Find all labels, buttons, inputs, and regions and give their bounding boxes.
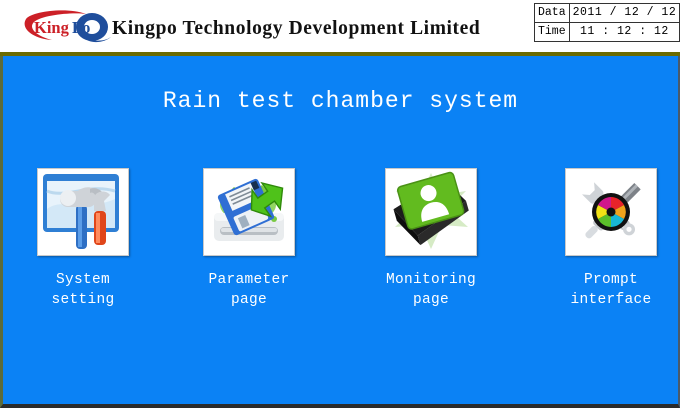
date-value: 2011 / 12 / 12 <box>569 4 680 23</box>
date-row: Data 2011 / 12 / 12 <box>535 4 680 23</box>
tile-label: Monitoring page <box>351 270 511 310</box>
hammer-wrench-window-icon <box>37 168 129 256</box>
svg-text:King: King <box>34 18 70 37</box>
time-label: Time <box>535 23 570 42</box>
screwdriver-wrench-colorwheel-icon <box>565 168 657 256</box>
time-row: Time 11 : 12 : 12 <box>535 23 680 42</box>
tile-label: Parameter page <box>169 270 329 310</box>
rain-test-chamber-app: King Po Kingpo Technology Development Li… <box>0 0 680 408</box>
time-value: 11 : 12 : 12 <box>569 23 680 42</box>
page-title: Rain test chamber system <box>3 88 678 114</box>
tile-monitoring-page[interactable]: Monitoring page <box>351 168 511 308</box>
company-name: Kingpo Technology Development Limited <box>112 14 532 44</box>
tile-label: System setting <box>3 270 163 310</box>
main-content: Rain test chamber system <box>0 56 680 408</box>
green-user-card-icon <box>385 168 477 256</box>
tile-prompt-interface[interactable]: Prompt interface <box>531 168 680 308</box>
tile-label: Prompt interface <box>531 270 680 310</box>
svg-text:Po: Po <box>72 18 90 37</box>
date-label: Data <box>535 4 570 23</box>
tile-system-setting[interactable]: System setting <box>3 168 163 308</box>
tile-parameter-page[interactable]: Parameter page <box>169 168 329 308</box>
kingpo-swoosh-logo: King Po <box>22 10 118 44</box>
header-bar: King Po Kingpo Technology Development Li… <box>0 0 680 52</box>
floppy-disk-save-arrow-icon <box>203 168 295 256</box>
datetime-panel: Data 2011 / 12 / 12 Time 11 : 12 : 12 <box>534 3 680 42</box>
